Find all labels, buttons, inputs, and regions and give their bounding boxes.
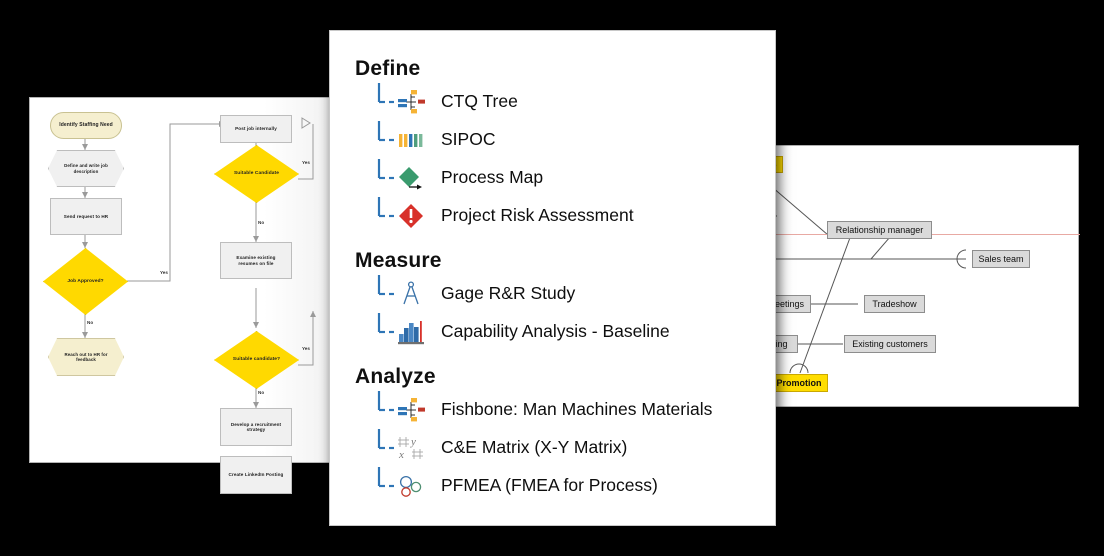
flow-node-define-write-job-description[interactable]: Define and write job description [48,150,124,187]
flow-node-send-request-to-hr[interactable]: Send request to HR [50,198,122,235]
flow-node-identify-staffing-need[interactable]: Identify Staffing Need [50,112,122,139]
phase-heading-analyze: Analyze [355,365,767,389]
tool-item-project-risk-assessment[interactable]: Project Risk Assessment [355,197,767,235]
tree-chart-icon [397,88,427,116]
edge-label-yes-suitable-candidate-2: Yes [302,346,310,351]
svg-text:y: y [410,436,416,448]
tool-item-fishbone-man-machines-materials[interactable]: Fishbone: Man Machines Materials [355,391,767,429]
flow-node-create-linkedin-posting[interactable]: Create LinkedIn Posting [220,456,292,494]
flow-node-develop-recruitment-strategy[interactable]: Develop a recruitment strategy [220,408,292,446]
xy-grid-icon: y x [397,434,427,462]
screenshot-stage: Identify Staffing Need Define and write … [0,0,1104,556]
tool-list-analyze: Fishbone: Man Machines Materials y [355,391,767,505]
fishbone-panel[interactable]: ple ers Relationship manager Sales team … [742,145,1079,407]
fishbone-box-existing-customers[interactable]: Existing customers [844,335,936,353]
tool-label: Gage R&R Study [413,285,575,303]
tool-item-gage-rr-study[interactable]: Gage R&R Study [355,275,767,313]
tool-item-ce-matrix[interactable]: y x C&E Matrix (X-Y Matrix) [355,429,767,467]
tool-label: CTQ Tree [413,93,518,111]
green-diamond-flow-icon [397,164,427,192]
svg-text:x: x [398,449,404,461]
dmaic-tool-list-panel[interactable]: Define [329,30,776,526]
fishbone-connectors [743,146,1080,408]
edge-label-no-suitable-candidate-2: No [258,390,264,395]
flow-node-reach-out-to-hr[interactable]: Reach out to HR for feedback [48,338,124,376]
phase-heading-measure: Measure [355,249,767,273]
red-warning-diamond-icon [397,202,427,230]
flow-node-examine-existing-resumes[interactable]: Examine existing resumes on file [220,242,292,279]
tool-label: Fishbone: Man Machines Materials [413,401,712,419]
tool-label: Project Risk Assessment [413,207,634,225]
tool-list-measure: Gage R&R Study [355,275,767,351]
compass-divider-icon [397,280,427,308]
bar-columns-icon [397,126,427,154]
tool-label: Capability Analysis - Baseline [413,323,670,341]
tool-item-sipoc[interactable]: SIPOC [355,121,767,159]
tool-item-capability-analysis-baseline[interactable]: Capability Analysis - Baseline [355,313,767,351]
histogram-icon [397,318,427,346]
tool-list-define: CTQ Tree SIPOC [355,83,767,235]
tool-label: C&E Matrix (X-Y Matrix) [413,439,627,457]
phase-heading-define: Define [355,57,767,81]
edge-label-yes-suitable-candidate-1: Yes [302,160,310,165]
flowchart-panel[interactable]: Identify Staffing Need Define and write … [29,97,331,463]
tree-chart-icon [397,396,427,424]
tool-item-ctq-tree[interactable]: CTQ Tree [355,83,767,121]
tool-item-pfmea[interactable]: PFMEA (FMEA for Process) [355,467,767,505]
tool-label: PFMEA (FMEA for Process) [413,477,658,495]
three-circles-icon [397,472,427,500]
fishbone-box-relationship-manager[interactable]: Relationship manager [827,221,932,239]
flow-node-post-job-internally[interactable]: Post job internally [220,115,292,143]
edge-label-no-suitable-candidate-1: No [258,220,264,225]
tool-item-process-map[interactable]: Process Map [355,159,767,197]
fishbone-box-promotion[interactable]: Promotion [770,374,828,392]
edge-label-yes-job-approved: Yes [160,270,168,275]
tool-label: Process Map [413,169,543,187]
edge-label-no-job-approved: No [87,320,93,325]
tool-list-content: Define [355,57,767,505]
fishbone-box-tradeshow[interactable]: Tradeshow [864,295,925,313]
fishbone-box-sales-team[interactable]: Sales team [972,250,1030,268]
